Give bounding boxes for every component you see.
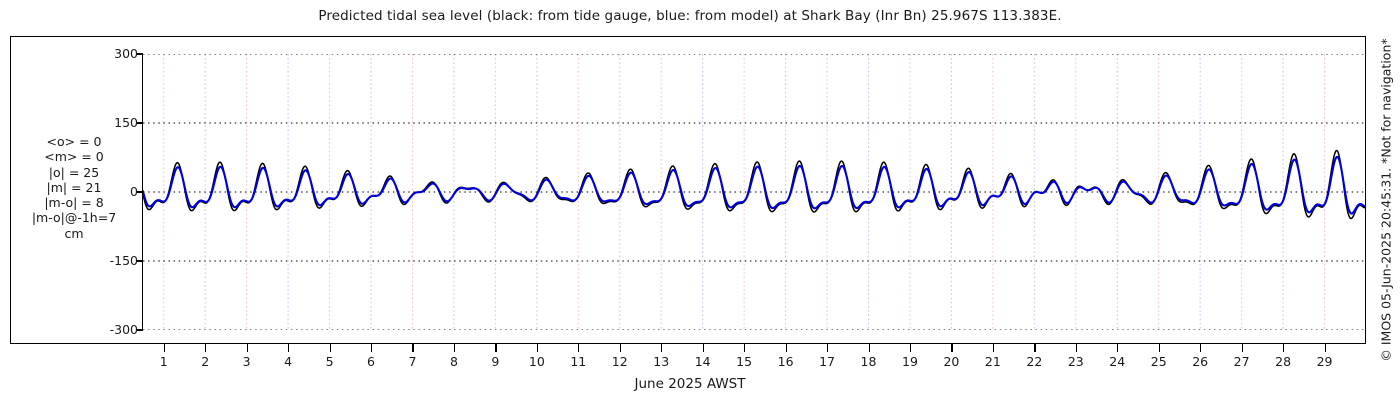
x-axis-tick (744, 344, 745, 352)
stat-units: cm (14, 226, 134, 241)
x-axis-tick (1200, 344, 1201, 352)
x-axis-tick-label: 6 (367, 354, 375, 369)
x-axis-tick (330, 344, 331, 352)
x-axis-tick (578, 344, 579, 352)
x-axis-tick-label: 7 (408, 354, 416, 369)
x-axis-tick-label: 28 (1275, 354, 1291, 369)
x-axis-tick-label: 8 (450, 354, 458, 369)
copyright-notice: © IMOS 05-Jun-2025 20:45:31. *Not for na… (1379, 38, 1394, 361)
x-axis-tick-label: 13 (653, 354, 669, 369)
x-axis-tick-label: 27 (1234, 354, 1250, 369)
y-axis-tick-label: 0 (92, 184, 138, 199)
x-axis-tick (371, 344, 372, 352)
x-axis-tick-label: 14 (695, 354, 711, 369)
x-axis-tick-label: 22 (1026, 354, 1042, 369)
x-axis-tick (993, 344, 994, 352)
y-axis-tick-label: -150 (92, 253, 138, 268)
x-axis-tick-label: 23 (1068, 354, 1084, 369)
x-axis-tick (1283, 344, 1284, 352)
x-axis-tick-label: 3 (243, 354, 251, 369)
x-axis-tick-label: 4 (284, 354, 292, 369)
stat-mean-observed: <o> = 0 (14, 134, 134, 149)
x-axis-tick (786, 344, 787, 352)
x-axis-tick (620, 344, 621, 352)
x-axis-tick (1034, 344, 1035, 352)
x-axis-tick (1325, 344, 1326, 352)
stat-rms-difference-lagged: |m-o|@-1h=7 (14, 210, 134, 225)
x-axis-tick-label: 20 (943, 354, 959, 369)
x-axis-tick (703, 344, 704, 352)
x-axis-tick (1242, 344, 1243, 352)
page-title: Predicted tidal sea level (black: from t… (0, 8, 1380, 24)
y-axis-tick-label: -300 (92, 322, 138, 337)
x-axis-tick (827, 344, 828, 352)
x-axis-tick (454, 344, 455, 352)
x-axis-tick (412, 344, 413, 352)
x-axis-tick-label: 9 (491, 354, 499, 369)
x-axis-tick (164, 344, 165, 352)
tidal-series-plot (143, 54, 1366, 330)
x-axis-tick-label: 2 (201, 354, 209, 369)
stat-rms-observed: |o| = 25 (14, 165, 134, 180)
horizontal-gridlines (143, 54, 1366, 330)
x-axis-tick (1076, 344, 1077, 352)
x-axis-tick-label: 18 (861, 354, 877, 369)
x-axis-tick (661, 344, 662, 352)
observed-series-line (143, 151, 1366, 219)
x-axis-tick (205, 344, 206, 352)
x-axis-title: June 2025 AWST (0, 376, 1380, 392)
plot-area (143, 54, 1366, 330)
x-axis-tick (951, 344, 952, 352)
x-axis-tick-label: 1 (160, 354, 168, 369)
x-axis-tick-label: 10 (529, 354, 545, 369)
x-axis-tick-label: 11 (570, 354, 586, 369)
stat-mean-model: <m> = 0 (14, 149, 134, 164)
x-axis-tick-label: 16 (778, 354, 794, 369)
x-axis-tick (247, 344, 248, 352)
x-axis-tick-label: 12 (612, 354, 628, 369)
tidal-chart-page: Predicted tidal sea level (black: from t… (0, 0, 1400, 400)
x-axis-tick (537, 344, 538, 352)
x-axis-tick-label: 5 (326, 354, 334, 369)
x-axis-tick (869, 344, 870, 352)
x-axis-tick-label: 24 (1109, 354, 1125, 369)
x-axis-tick (495, 344, 496, 352)
x-axis-tick-label: 29 (1317, 354, 1333, 369)
x-axis-tick (1117, 344, 1118, 352)
x-axis-tick (1159, 344, 1160, 352)
x-axis-tick-label: 26 (1192, 354, 1208, 369)
x-axis-tick-label: 25 (1151, 354, 1167, 369)
x-axis-tick (910, 344, 911, 352)
x-axis-tick (288, 344, 289, 352)
y-axis-tick-label: 150 (92, 115, 138, 130)
x-axis-tick-label: 21 (985, 354, 1001, 369)
x-axis-tick-label: 17 (819, 354, 835, 369)
x-axis-tick-label: 15 (736, 354, 752, 369)
y-axis-tick-label: 300 (92, 46, 138, 61)
x-axis-tick-label: 19 (902, 354, 918, 369)
